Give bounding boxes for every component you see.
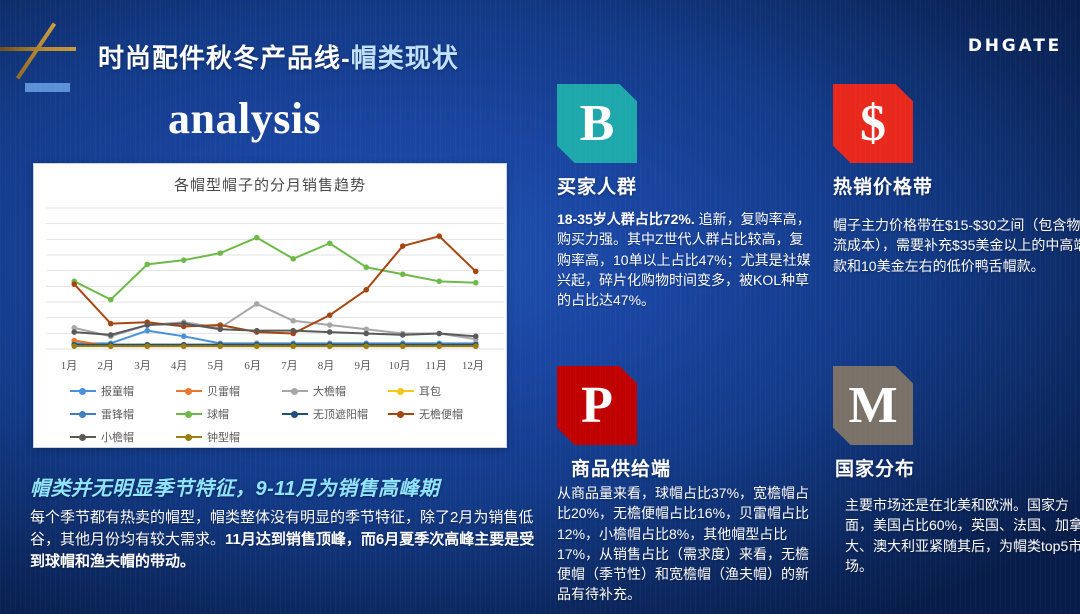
card-buyers-title: 买家人群 [557,172,815,199]
legend-label: 无顶遮阳帽 [313,406,368,422]
series-point [363,287,369,293]
legend-item-4[interactable]: 雷锋帽 [70,406,176,422]
chart-legend: 报童帽贝雷帽大檐帽耳包雷锋帽球帽无顶遮阳帽无檐便帽小檐帽钟型帽 [34,373,506,452]
legend-swatch-icon [282,409,308,419]
series-point [327,343,333,349]
letter-b-icon: B [557,84,637,163]
series-point [254,328,260,334]
legend-item-7[interactable]: 无檐便帽 [388,406,494,422]
legend-item-1[interactable]: 贝雷帽 [176,383,282,399]
legend-swatch-icon [176,409,202,419]
series-point [181,343,187,349]
x-tick-1: 2月 [89,357,123,373]
decor-blue-bar [25,83,70,92]
legend-label: 大檐帽 [313,383,346,399]
chart-title: 各帽型帽子的分月销售趋势 [34,164,506,195]
series-point [400,343,406,349]
series-point [327,322,333,328]
card-supply-body: 从商品量来看，球帽占比37%，宽檐帽占比20%，无檐便帽占比16%，贝雷帽占比1… [557,483,815,605]
chart-panel: 各帽型帽子的分月销售趋势 1月2月3月4月5月6月7月8月9月10月11月12月… [33,163,507,448]
series-point [108,297,114,303]
chart-svg [34,200,508,355]
series-point [290,328,296,334]
card-buyers-body: 18-35岁人群占比72%. 追新，复购率高，购买力强。其中Z世代人群占比较高，… [557,209,815,310]
x-tick-11: 12月 [456,357,490,373]
series-point [473,343,479,349]
card-buyers[interactable]: B 买家人群 18-35岁人群占比72%. 追新，复购率高，购买力强。其中Z世代… [557,84,815,310]
series-point [108,343,114,349]
page-title-accent: 帽类现状 [351,43,459,73]
x-tick-10: 11月 [419,357,453,373]
legend-label: 雷锋帽 [101,406,134,422]
series-point [327,329,333,335]
legend-item-2[interactable]: 大檐帽 [282,383,388,399]
series-point [327,240,333,246]
chart-x-axis: 1月2月3月4月5月6月7月8月9月10月11月12月 [34,355,506,373]
dhgate-logo: DHGATE [968,36,1062,56]
legend-item-6[interactable]: 无顶遮阳帽 [282,406,388,422]
legend-item-3[interactable]: 耳包 [388,383,494,399]
series-point [71,281,77,287]
x-tick-0: 1月 [52,357,86,373]
legend-label: 无檐便帽 [419,406,463,422]
card-supply-title: 商品供给端 [571,454,815,481]
series-point [436,331,442,337]
legend-swatch-icon [388,386,414,396]
x-tick-7: 8月 [309,357,343,373]
series-line-5 [74,238,476,300]
dollar-sign-icon: $ [833,84,913,163]
x-tick-3: 4月 [162,357,196,373]
series-point [436,233,442,239]
page-title-main: 时尚配件秋冬产品线 [98,43,341,73]
series-point [290,343,296,349]
legend-swatch-icon [70,386,96,396]
chart-plot-area [34,200,508,355]
series-point [436,343,442,349]
x-tick-4: 5月 [199,357,233,373]
series-point [290,318,296,324]
series-point [327,312,333,318]
card-supply[interactable]: P 商品供给端 从商品量来看，球帽占比37%，宽檐帽占比20%，无檐便帽占比16… [557,366,815,605]
series-point [363,343,369,349]
x-tick-9: 10月 [382,357,416,373]
x-tick-6: 7月 [272,357,306,373]
series-point [71,343,77,349]
series-point [254,343,260,349]
legend-swatch-icon [176,432,202,442]
series-point [473,334,479,340]
legend-item-5[interactable]: 球帽 [176,406,282,422]
series-point [363,331,369,337]
series-point [144,262,150,268]
legend-label: 球帽 [207,406,229,422]
card-countries-title: 国家分布 [835,454,1080,481]
series-point [108,332,114,338]
series-point [108,321,114,327]
legend-item-8[interactable]: 小檐帽 [70,429,176,445]
legend-swatch-icon [70,432,96,442]
legend-swatch-icon [70,409,96,419]
x-tick-8: 9月 [346,357,380,373]
legend-item-9[interactable]: 钟型帽 [176,429,282,445]
series-point [181,257,187,263]
analysis-heading: analysis [168,93,321,144]
letter-m-icon: M [833,366,913,445]
legend-swatch-icon [388,409,414,419]
slide-canvas: 时尚配件秋冬产品线-帽类现状 DHGATE analysis 各帽型帽子的分月销… [0,0,1080,614]
callout-body: 每个季节都有热卖的帽型，帽类整体没有明显的季节特征，除了2月为销售低谷，其他月份… [30,507,535,574]
series-point [254,235,260,241]
legend-swatch-icon [282,386,308,396]
legend-item-0[interactable]: 报童帽 [70,383,176,399]
series-point [181,334,187,340]
card-buyers-body-bold: 18-35岁人群占比72%. [557,211,695,227]
legend-label: 小檐帽 [101,429,134,445]
series-point [181,321,187,327]
card-countries[interactable]: M 国家分布 主要市场还是在北美和欧洲。国家方面，美国占比60%，英国、法国、加… [833,366,1080,576]
legend-swatch-icon [176,386,202,396]
series-point [144,322,150,328]
series-point [254,301,260,307]
legend-label: 贝雷帽 [207,383,240,399]
series-point [217,250,223,256]
card-price-band-body: 帽子主力价格带在$15-$30之间（包含物流成本），需要补充$35美金以上的中高… [833,215,1080,276]
series-point [144,343,150,349]
decor-gold-diagonal-line [16,23,56,80]
page-title: 时尚配件秋冬产品线-帽类现状 [98,38,459,75]
series-point [290,256,296,262]
series-point [436,279,442,285]
series-point [217,326,223,332]
series-point [400,271,406,277]
series-point [217,343,223,349]
series-point [363,264,369,270]
letter-p-icon: P [557,366,637,445]
legend-label: 报童帽 [101,383,134,399]
series-point [144,328,150,334]
series-point [473,269,479,275]
callout-heading: 帽类并无明显季节特征，9-11月为销售高峰期 [30,472,535,501]
series-point [400,243,406,249]
card-countries-body: 主要市场还是在北美和欧洲。国家方面，美国占比60%，英国、法国、加拿大、澳大利亚… [845,495,1080,576]
series-point [71,329,77,335]
series-point [400,332,406,338]
legend-label: 耳包 [419,383,441,399]
page-title-separator: - [341,43,351,73]
x-tick-5: 6月 [236,357,270,373]
legend-label: 钟型帽 [207,429,240,445]
card-price-band-title: 热销价格带 [833,172,1080,199]
x-tick-2: 3月 [125,357,159,373]
callout-block: 帽类并无明显季节特征，9-11月为销售高峰期 每个季节都有热卖的帽型，帽类整体没… [30,472,535,574]
series-point [473,280,479,286]
series-line-7 [74,236,476,333]
card-price-band[interactable]: $ 热销价格带 帽子主力价格带在$15-$30之间（包含物流成本），需要补充$3… [833,84,1080,276]
